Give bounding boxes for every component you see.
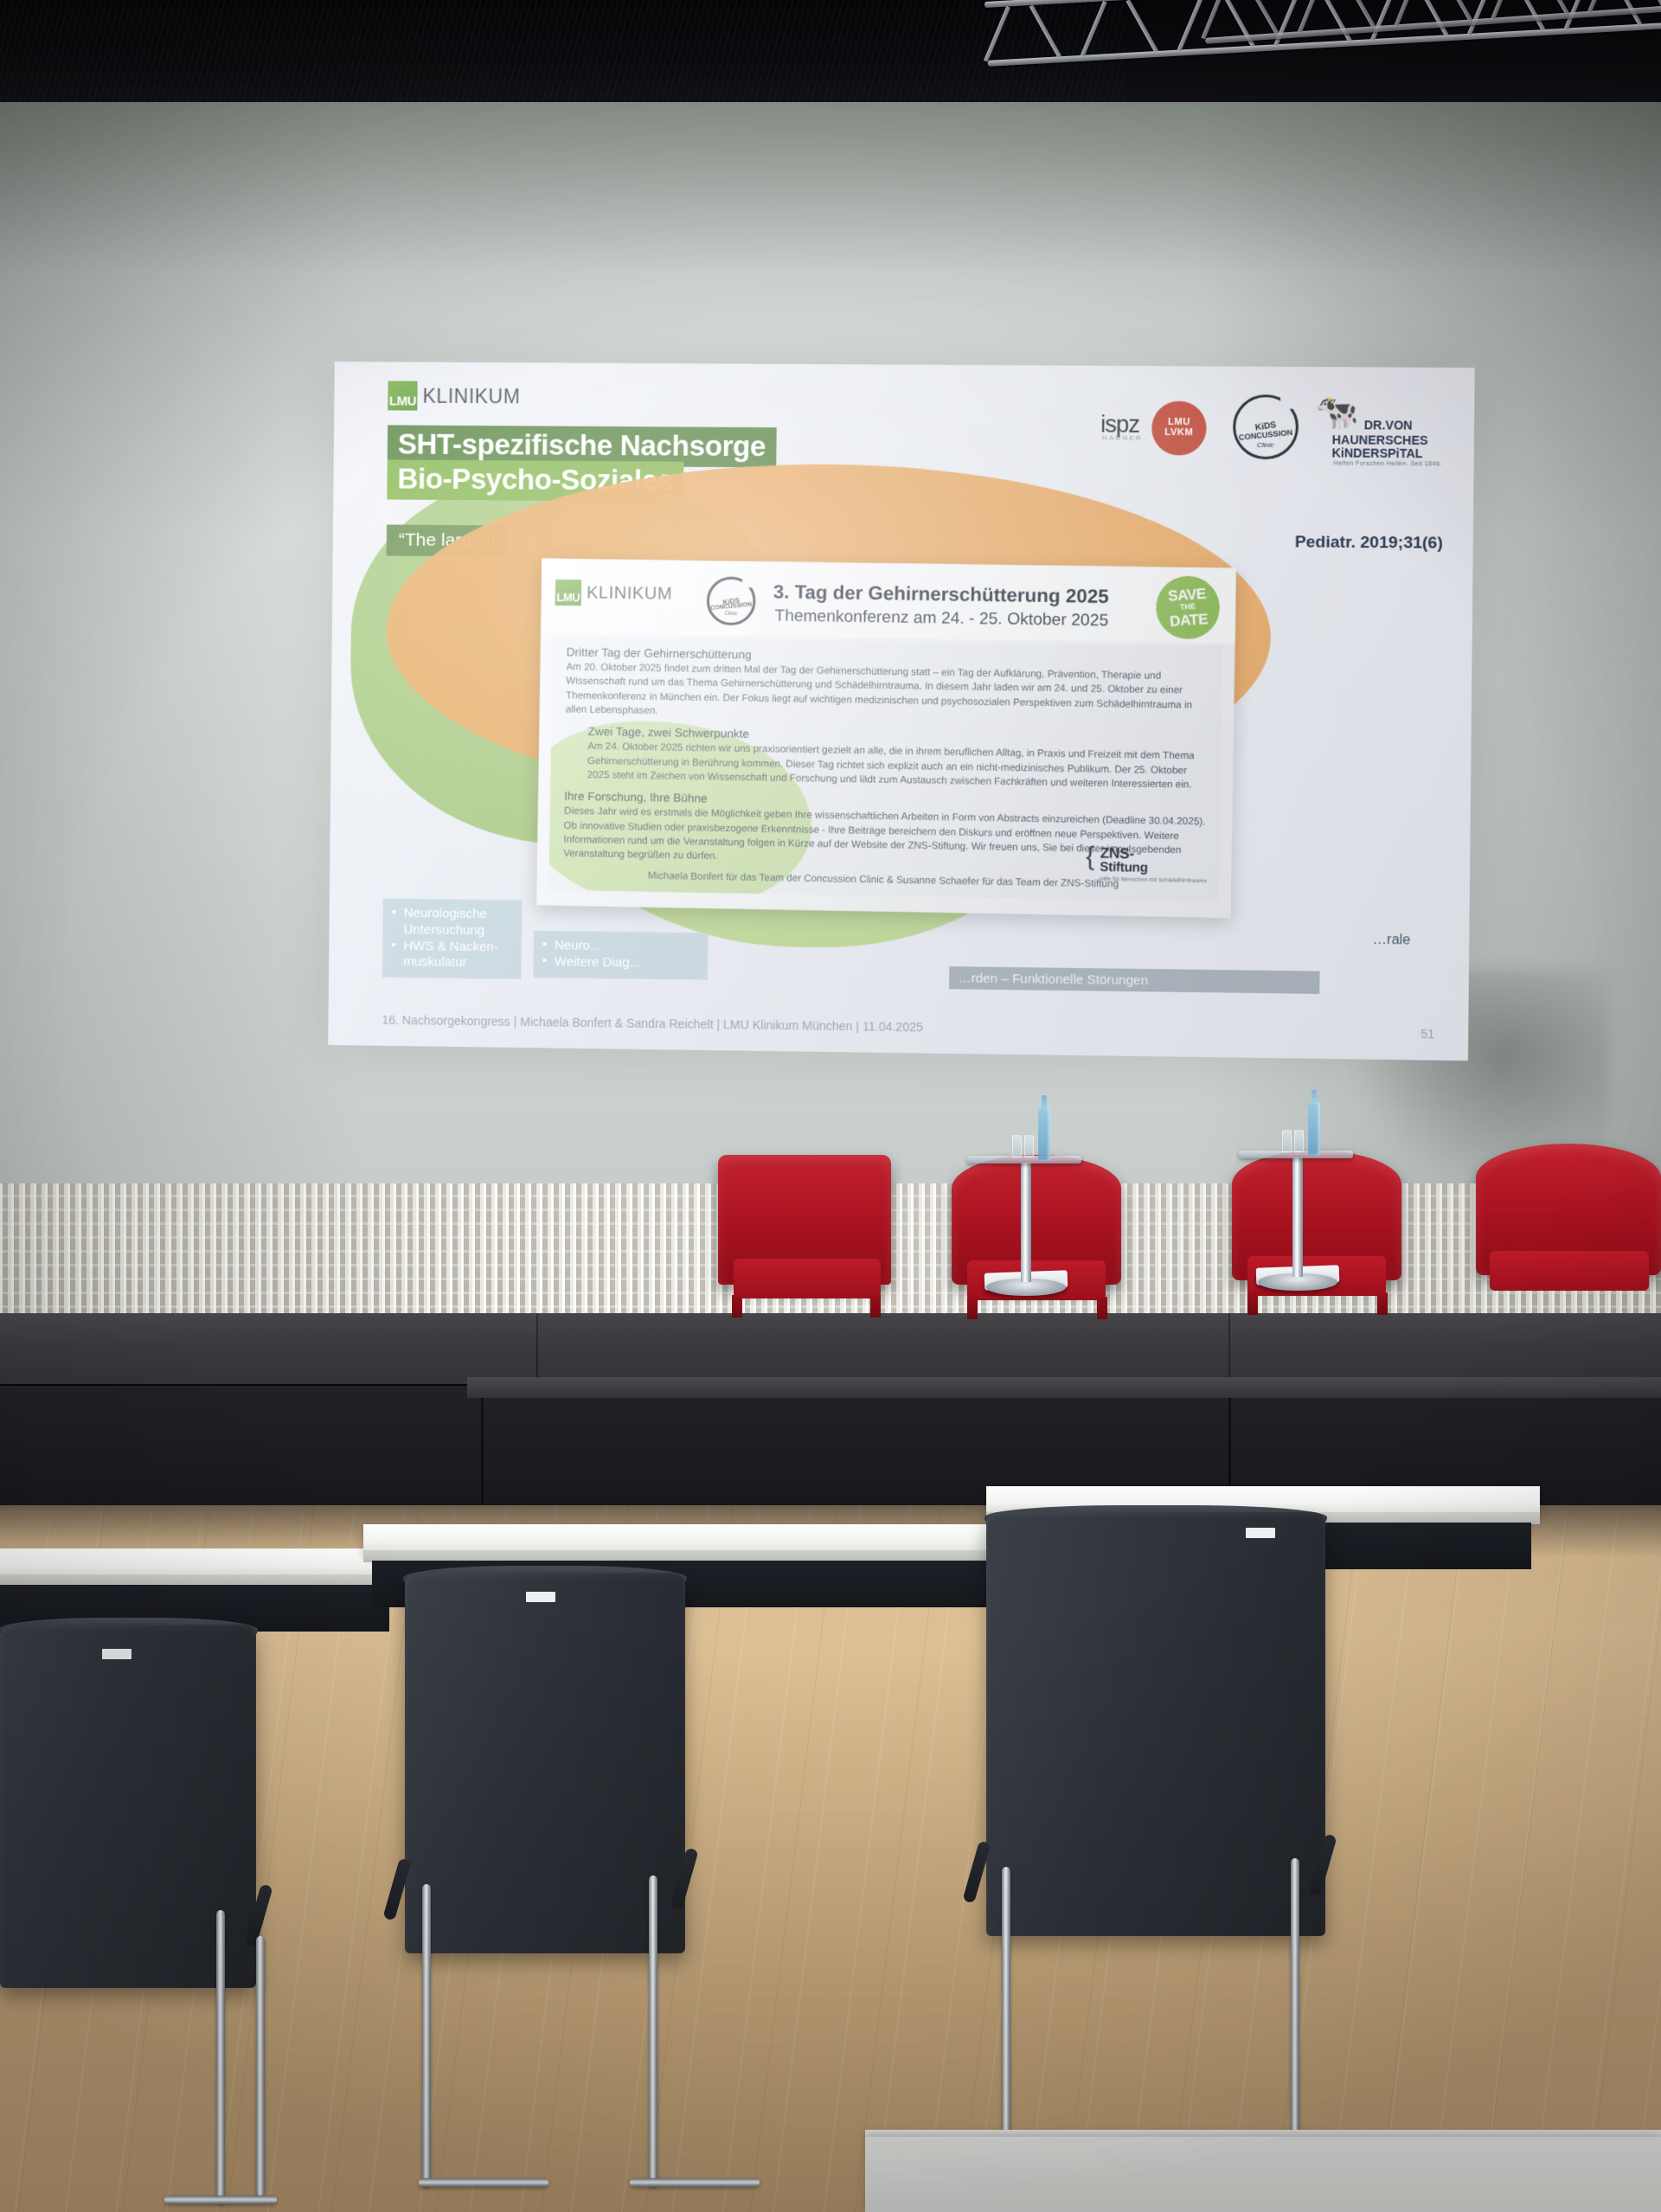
chair-backrest bbox=[986, 1512, 1325, 1936]
drinking-glass bbox=[1282, 1130, 1292, 1152]
list-item: Neurologische Untersuchung bbox=[391, 906, 513, 939]
conference-chair bbox=[986, 1512, 1332, 2204]
kids-concussion-clinic-logo: KiDS CONCUSSION Clinic bbox=[1233, 394, 1299, 459]
truss-diagonal bbox=[1126, 0, 1158, 53]
truss-diagonal bbox=[1081, 1, 1107, 57]
chair-frame-foot bbox=[419, 2178, 548, 2187]
truss-diagonal bbox=[1029, 4, 1062, 58]
chair-label-tag bbox=[1246, 1528, 1275, 1538]
ispz-subtitle: HAUNER bbox=[1102, 434, 1143, 442]
drinking-glass bbox=[1294, 1130, 1304, 1152]
chair-label-tag bbox=[102, 1649, 131, 1659]
flyer-lmu-logo: LMU KLINIKUM bbox=[555, 580, 673, 607]
save-the-date-badge: SAVE THE DATE bbox=[1154, 574, 1222, 641]
truss-diagonal bbox=[984, 6, 1010, 62]
drinking-glass bbox=[1012, 1135, 1022, 1157]
chair-frame-tube bbox=[256, 1936, 265, 2196]
conference-room-photo: LMU KLINIKUM ispz HAUNER LMU LVKM KiDS bbox=[0, 0, 1661, 2212]
water-bottle bbox=[1308, 1102, 1320, 1156]
slide-box-left-list: Neurologische Untersuchung HWS & Nacken-… bbox=[391, 906, 513, 972]
list-item: Weitere Diag... bbox=[542, 954, 699, 972]
bottle-neck bbox=[1042, 1095, 1047, 1109]
water-bottle bbox=[1038, 1107, 1050, 1161]
list-item: HWS & Nacken-muskulatur bbox=[391, 938, 513, 971]
hauner-line3: KiNDERSPiTAL bbox=[1331, 446, 1422, 460]
chair-back-panel bbox=[986, 1512, 1325, 1936]
badge-line1: SAVE bbox=[1167, 587, 1206, 604]
lvkm-badge-icon: LMU LVKM bbox=[1151, 401, 1207, 455]
stage-step-edge bbox=[467, 1377, 1661, 1398]
hauner-line1: DR.VON bbox=[1364, 418, 1413, 433]
ispz-logo: ispz HAUNER LMU LVKM bbox=[1100, 399, 1217, 453]
armchair-leg bbox=[967, 1297, 978, 1319]
flyer-section: Zwei Tage, zwei Schwerpunkte Am 24. Okto… bbox=[564, 725, 1207, 793]
armchair-seat bbox=[734, 1259, 881, 1298]
lvkm-line2: LVKM bbox=[1164, 428, 1193, 439]
conference-chair bbox=[0, 1625, 260, 2212]
bottle-neck bbox=[1311, 1090, 1317, 1104]
chair-label-tag bbox=[526, 1592, 555, 1602]
slide-box-middle-list: Neuro... Weitere Diag... bbox=[542, 938, 700, 972]
chair-frame-foot bbox=[630, 2178, 760, 2187]
slide-box-middle: Neuro... Weitere Diag... bbox=[533, 931, 708, 979]
chair-frame-foot bbox=[164, 2196, 277, 2204]
flyer-kcc-logo: KiDS CONCUSSION Clinic bbox=[706, 576, 755, 625]
slide-right-label: …rale bbox=[1373, 933, 1411, 949]
zns-brace-icon: { bbox=[1086, 843, 1095, 869]
table-top bbox=[363, 1524, 1021, 1554]
slide-citation: Pediatr. 2019;31(6) bbox=[1295, 533, 1443, 554]
flyer-title: 3. Tag der Gehirnerschütterung 2025 bbox=[773, 580, 1109, 608]
red-armchair bbox=[709, 1155, 900, 1341]
list-item: Neuro... bbox=[542, 938, 699, 956]
ceiling-slats bbox=[0, 0, 1125, 111]
flyer-section: Dritter Tag der Gehirnerschütterung Am 2… bbox=[566, 645, 1209, 727]
armchair-leg bbox=[1377, 1292, 1388, 1315]
lmu-mark-icon: LMU bbox=[555, 580, 582, 606]
truss-diagonal bbox=[1177, 0, 1204, 51]
hauner-tagline: Helfen Forschen Heilen. Seit 1846. bbox=[1333, 461, 1441, 468]
lmu-wordmark: KLINIKUM bbox=[587, 583, 673, 605]
chair-frame-tube bbox=[422, 1884, 431, 2187]
chair-backrest bbox=[405, 1573, 685, 1953]
red-armchair bbox=[1232, 1151, 1405, 1337]
conference-chair bbox=[405, 1573, 690, 2212]
save-the-date-flyer: LMU KLINIKUM KiDS CONCUSSION Clinic 3. T… bbox=[536, 558, 1236, 918]
zns-line2: Stiftung bbox=[1100, 861, 1207, 875]
table-top bbox=[0, 1548, 398, 1578]
chair-frame-tube bbox=[216, 1910, 225, 2204]
kcc-line3: Clinic bbox=[725, 612, 738, 617]
front-table-surface bbox=[865, 2137, 1661, 2212]
slide-canvas: LMU KLINIKUM ispz HAUNER LMU LVKM KiDS bbox=[328, 362, 1475, 1061]
lion-icon: 🐄 bbox=[1314, 394, 1361, 433]
armchair-leg bbox=[732, 1295, 742, 1318]
lmu-wordmark: KLINIKUM bbox=[422, 384, 520, 408]
kcc-line3: Clinic bbox=[1257, 441, 1274, 449]
slide-number: 51 bbox=[1421, 1027, 1434, 1041]
side-table-pole bbox=[1292, 1157, 1303, 1277]
badge-line3: DATE bbox=[1170, 612, 1209, 629]
flyer-body: Dritter Tag der Gehirnerschütterung Am 2… bbox=[548, 637, 1222, 902]
armchair-seat bbox=[1490, 1251, 1649, 1291]
flyer-header: LMU KLINIKUM KiDS CONCUSSION Clinic 3. T… bbox=[541, 558, 1236, 643]
side-table-pole bbox=[1021, 1163, 1031, 1282]
drinking-glass bbox=[1024, 1135, 1034, 1157]
chair-frame-tube bbox=[649, 1875, 657, 2187]
lmu-mark-label: LMU bbox=[389, 394, 416, 410]
slide-partner-logos: ispz HAUNER LMU LVKM KiDS CONCUSSION Cli… bbox=[1100, 390, 1457, 464]
projected-slide: LMU KLINIKUM ispz HAUNER LMU LVKM KiDS bbox=[328, 362, 1475, 1061]
lmu-klinikum-logo: LMU KLINIKUM bbox=[388, 381, 520, 411]
red-armchair bbox=[952, 1155, 1125, 1341]
slide-box-left: Neurologische Untersuchung HWS & Nacken-… bbox=[382, 899, 522, 979]
zns-stiftung-logo: { ZNS- Stiftung Hilfe für Menschen mit S… bbox=[1100, 846, 1207, 886]
haunersches-kinderspital-logo: 🐄 DR.VON HAUNERSCHES KiNDERSPiTAL Helfen… bbox=[1314, 391, 1457, 464]
lmu-mark-icon: LMU bbox=[388, 381, 417, 410]
flyer-subtitle: Themenkonferenz am 24. - 25. Oktober 202… bbox=[774, 607, 1108, 632]
armchair-leg bbox=[1097, 1297, 1107, 1319]
lmu-mark-label: LMU bbox=[556, 592, 580, 606]
armchair-leg bbox=[1247, 1292, 1258, 1315]
red-armchair bbox=[1476, 1144, 1661, 1330]
slide-footer: 16. Nachsorgekongress | Michaela Bonfert… bbox=[382, 1013, 923, 1035]
chair-back-panel bbox=[405, 1573, 685, 1953]
section-body: Am 20. Oktober 2025 findet zum dritten M… bbox=[566, 660, 1209, 727]
slide-bottom-bar: …rden – Funktionelle Störungen bbox=[949, 966, 1319, 994]
armchair-leg bbox=[870, 1295, 881, 1318]
